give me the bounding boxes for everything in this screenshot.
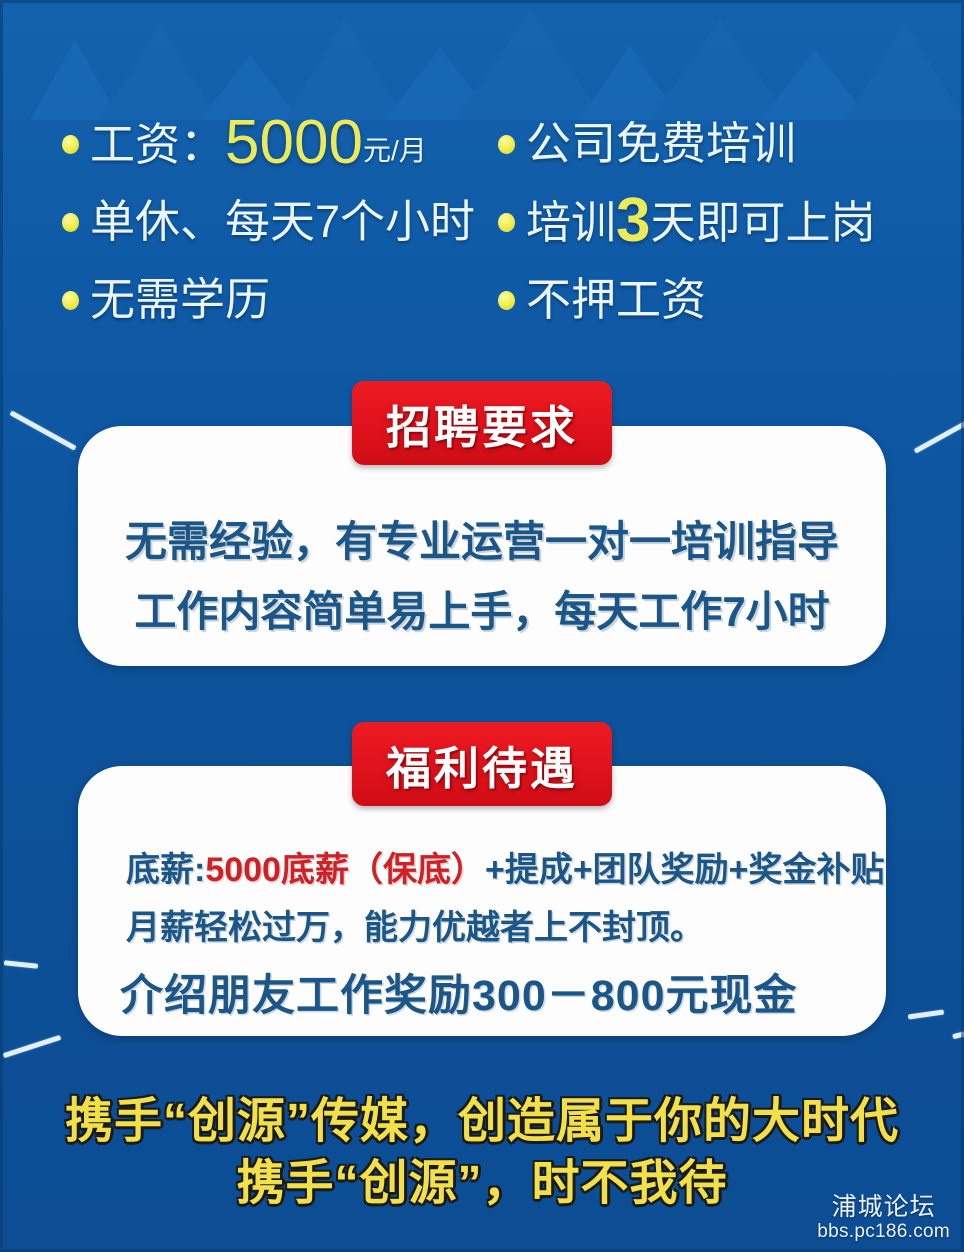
salary-prefix: 工资： <box>90 119 225 170</box>
feature-item-label: 培训3天即可上岗 <box>526 190 876 252</box>
feature-item-training-days: 培训3天即可上岗 <box>498 182 964 260</box>
feature-item-label: 工资：5000元/月 <box>90 112 427 174</box>
benefits-badge: 福利待遇 <box>352 722 612 806</box>
slash-decoration-left-1 <box>9 410 76 450</box>
benefits-badge-label: 福利待遇 <box>386 732 578 797</box>
benefits-line-1: 底薪:5000底薪（保底）+提成+团队奖励+奖金补贴 <box>78 853 886 887</box>
requirements-badge-label: 招聘要求 <box>386 391 578 456</box>
feature-column-right: 公司免费培训 培训3天即可上岗 不押工资 <box>482 104 964 338</box>
training-days-number: 3 <box>616 186 650 255</box>
feature-item-salary: 工资：5000元/月 <box>62 104 482 182</box>
salary-unit: 元/月 <box>363 135 427 166</box>
slash-decoration-right-3 <box>952 1022 964 1039</box>
feature-item-label: 不押工资 <box>526 277 706 322</box>
bullet-dot-icon <box>498 135 515 154</box>
feature-column-left: 工资：5000元/月 单休、每天7个小时 无需学历 <box>0 104 482 338</box>
feature-item-no-education: 无需学历 <box>62 260 482 338</box>
benefits-line-2: 月薪轻松过万，能力优越者上不封顶。 <box>78 911 886 945</box>
bullet-dot-icon <box>498 213 515 232</box>
salary-amount: 5000 <box>225 108 363 177</box>
mountain-pattern-decoration <box>0 0 964 120</box>
slash-decoration-left-3 <box>3 1035 62 1058</box>
feature-item-free-training: 公司免费培训 <box>498 104 964 182</box>
feature-item-label: 公司免费培训 <box>526 121 796 166</box>
bullet-dot-icon <box>62 135 79 154</box>
benefits-extras: +提成+团队奖励+奖金补贴 <box>485 851 885 889</box>
bottom-slogan: 携手“创源”传媒，创造属于你的大时代 携手“创源”，时不我待 <box>0 1098 964 1208</box>
requirements-badge: 招聘要求 <box>352 381 612 465</box>
benefits-base-label: 底薪: <box>126 851 205 889</box>
requirements-line-1: 无需经验，有专业运营一对一培训指导 <box>78 521 886 563</box>
slash-decoration-right-2 <box>908 1010 944 1020</box>
training-suffix: 天即可上岗 <box>651 197 876 248</box>
watermark: 浦城论坛 bbs.pc186.com <box>817 1194 950 1244</box>
feature-item-label: 无需学历 <box>90 277 270 322</box>
feature-item-schedule: 单休、每天7个小时 <box>62 182 482 260</box>
bullet-dot-icon <box>62 213 79 232</box>
benefits-base-amount: 5000底薪（保底） <box>205 851 485 889</box>
feature-item-label: 单休、每天7个小时 <box>90 199 475 244</box>
slash-decoration-left-2 <box>4 960 38 969</box>
feature-item-no-deposit: 不押工资 <box>498 260 964 338</box>
recruitment-poster: 工资：5000元/月 单休、每天7个小时 无需学历 公司免费培训 培训3天即可上… <box>0 0 964 1252</box>
slash-decoration-right-1 <box>914 411 964 453</box>
benefits-card: 底薪:5000底薪（保底）+提成+团队奖励+奖金补贴 月薪轻松过万，能力优越者上… <box>78 766 886 1036</box>
feature-bullet-grid: 工资：5000元/月 单休、每天7个小时 无需学历 公司免费培训 培训3天即可上… <box>0 104 964 338</box>
watermark-site-name: 浦城论坛 <box>817 1194 950 1220</box>
requirements-line-2: 工作内容简单易上手，每天工作7小时 <box>78 591 886 633</box>
slogan-line-1: 携手“创源”传媒，创造属于你的大时代 <box>0 1098 964 1146</box>
bullet-dot-icon <box>498 291 515 310</box>
watermark-url: bbs.pc186.com <box>817 1220 950 1244</box>
benefits-referral-line: 介绍朋友工作奖励300－800元现金 <box>78 975 886 1018</box>
bullet-dot-icon <box>62 291 79 310</box>
training-prefix: 培训 <box>526 197 616 248</box>
